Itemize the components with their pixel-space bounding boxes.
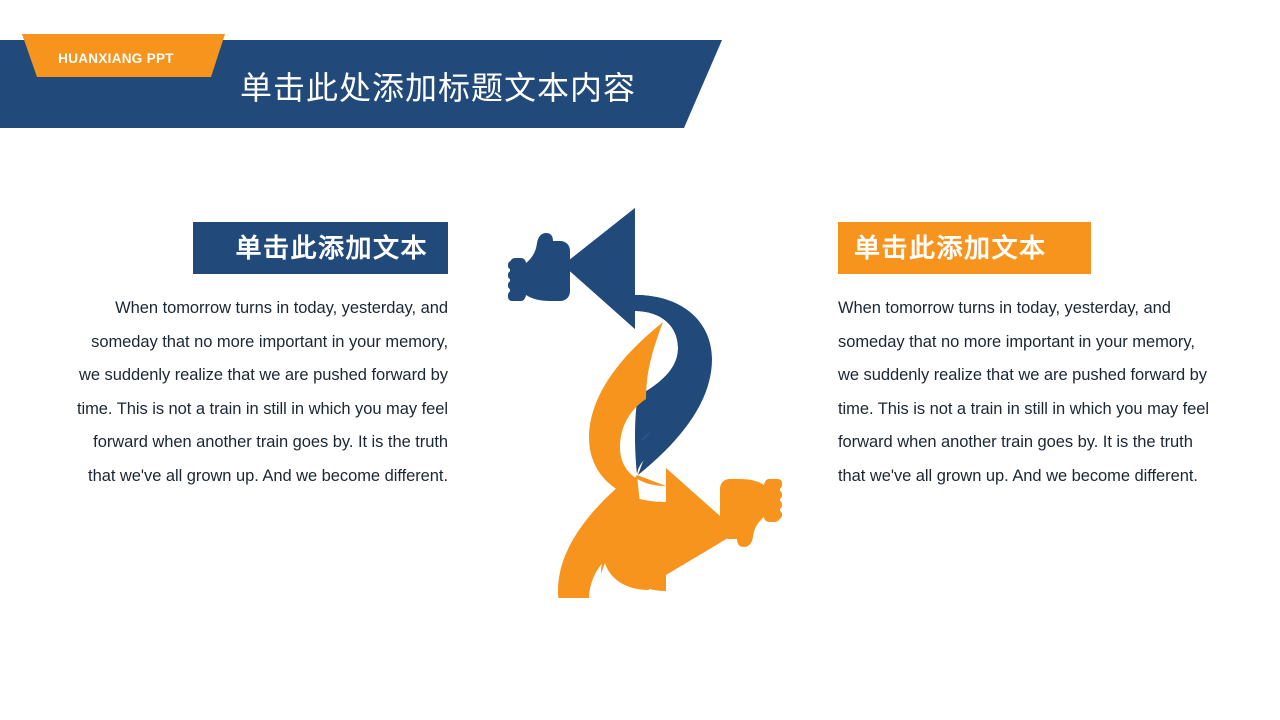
page-title: 单击此处添加标题文本内容 (240, 62, 660, 114)
content-column-left: 单击此添加文本 When tomorrow turns in today, ye… (76, 222, 448, 494)
column-body-left: When tomorrow turns in today, yesterday,… (76, 292, 448, 494)
double-curved-arrow-graphic (495, 198, 795, 598)
column-heading-left: 单击此添加文本 (193, 222, 448, 274)
column-heading-right: 单击此添加文本 (838, 222, 1091, 274)
slide-header: HUANXIANG PPT 单击此处添加标题文本内容 (0, 0, 760, 150)
column-body-right: When tomorrow turns in today, yesterday,… (838, 292, 1210, 494)
slide-canvas: HUANXIANG PPT 单击此处添加标题文本内容 单击此添加文本 When … (0, 0, 1280, 720)
content-column-right: 单击此添加文本 When tomorrow turns in today, ye… (838, 222, 1210, 494)
center-graphic (495, 198, 795, 598)
brand-label: HUANXIANG PPT (36, 48, 196, 70)
thumbs-down-icon (720, 479, 782, 547)
thumbs-up-icon (508, 233, 570, 301)
